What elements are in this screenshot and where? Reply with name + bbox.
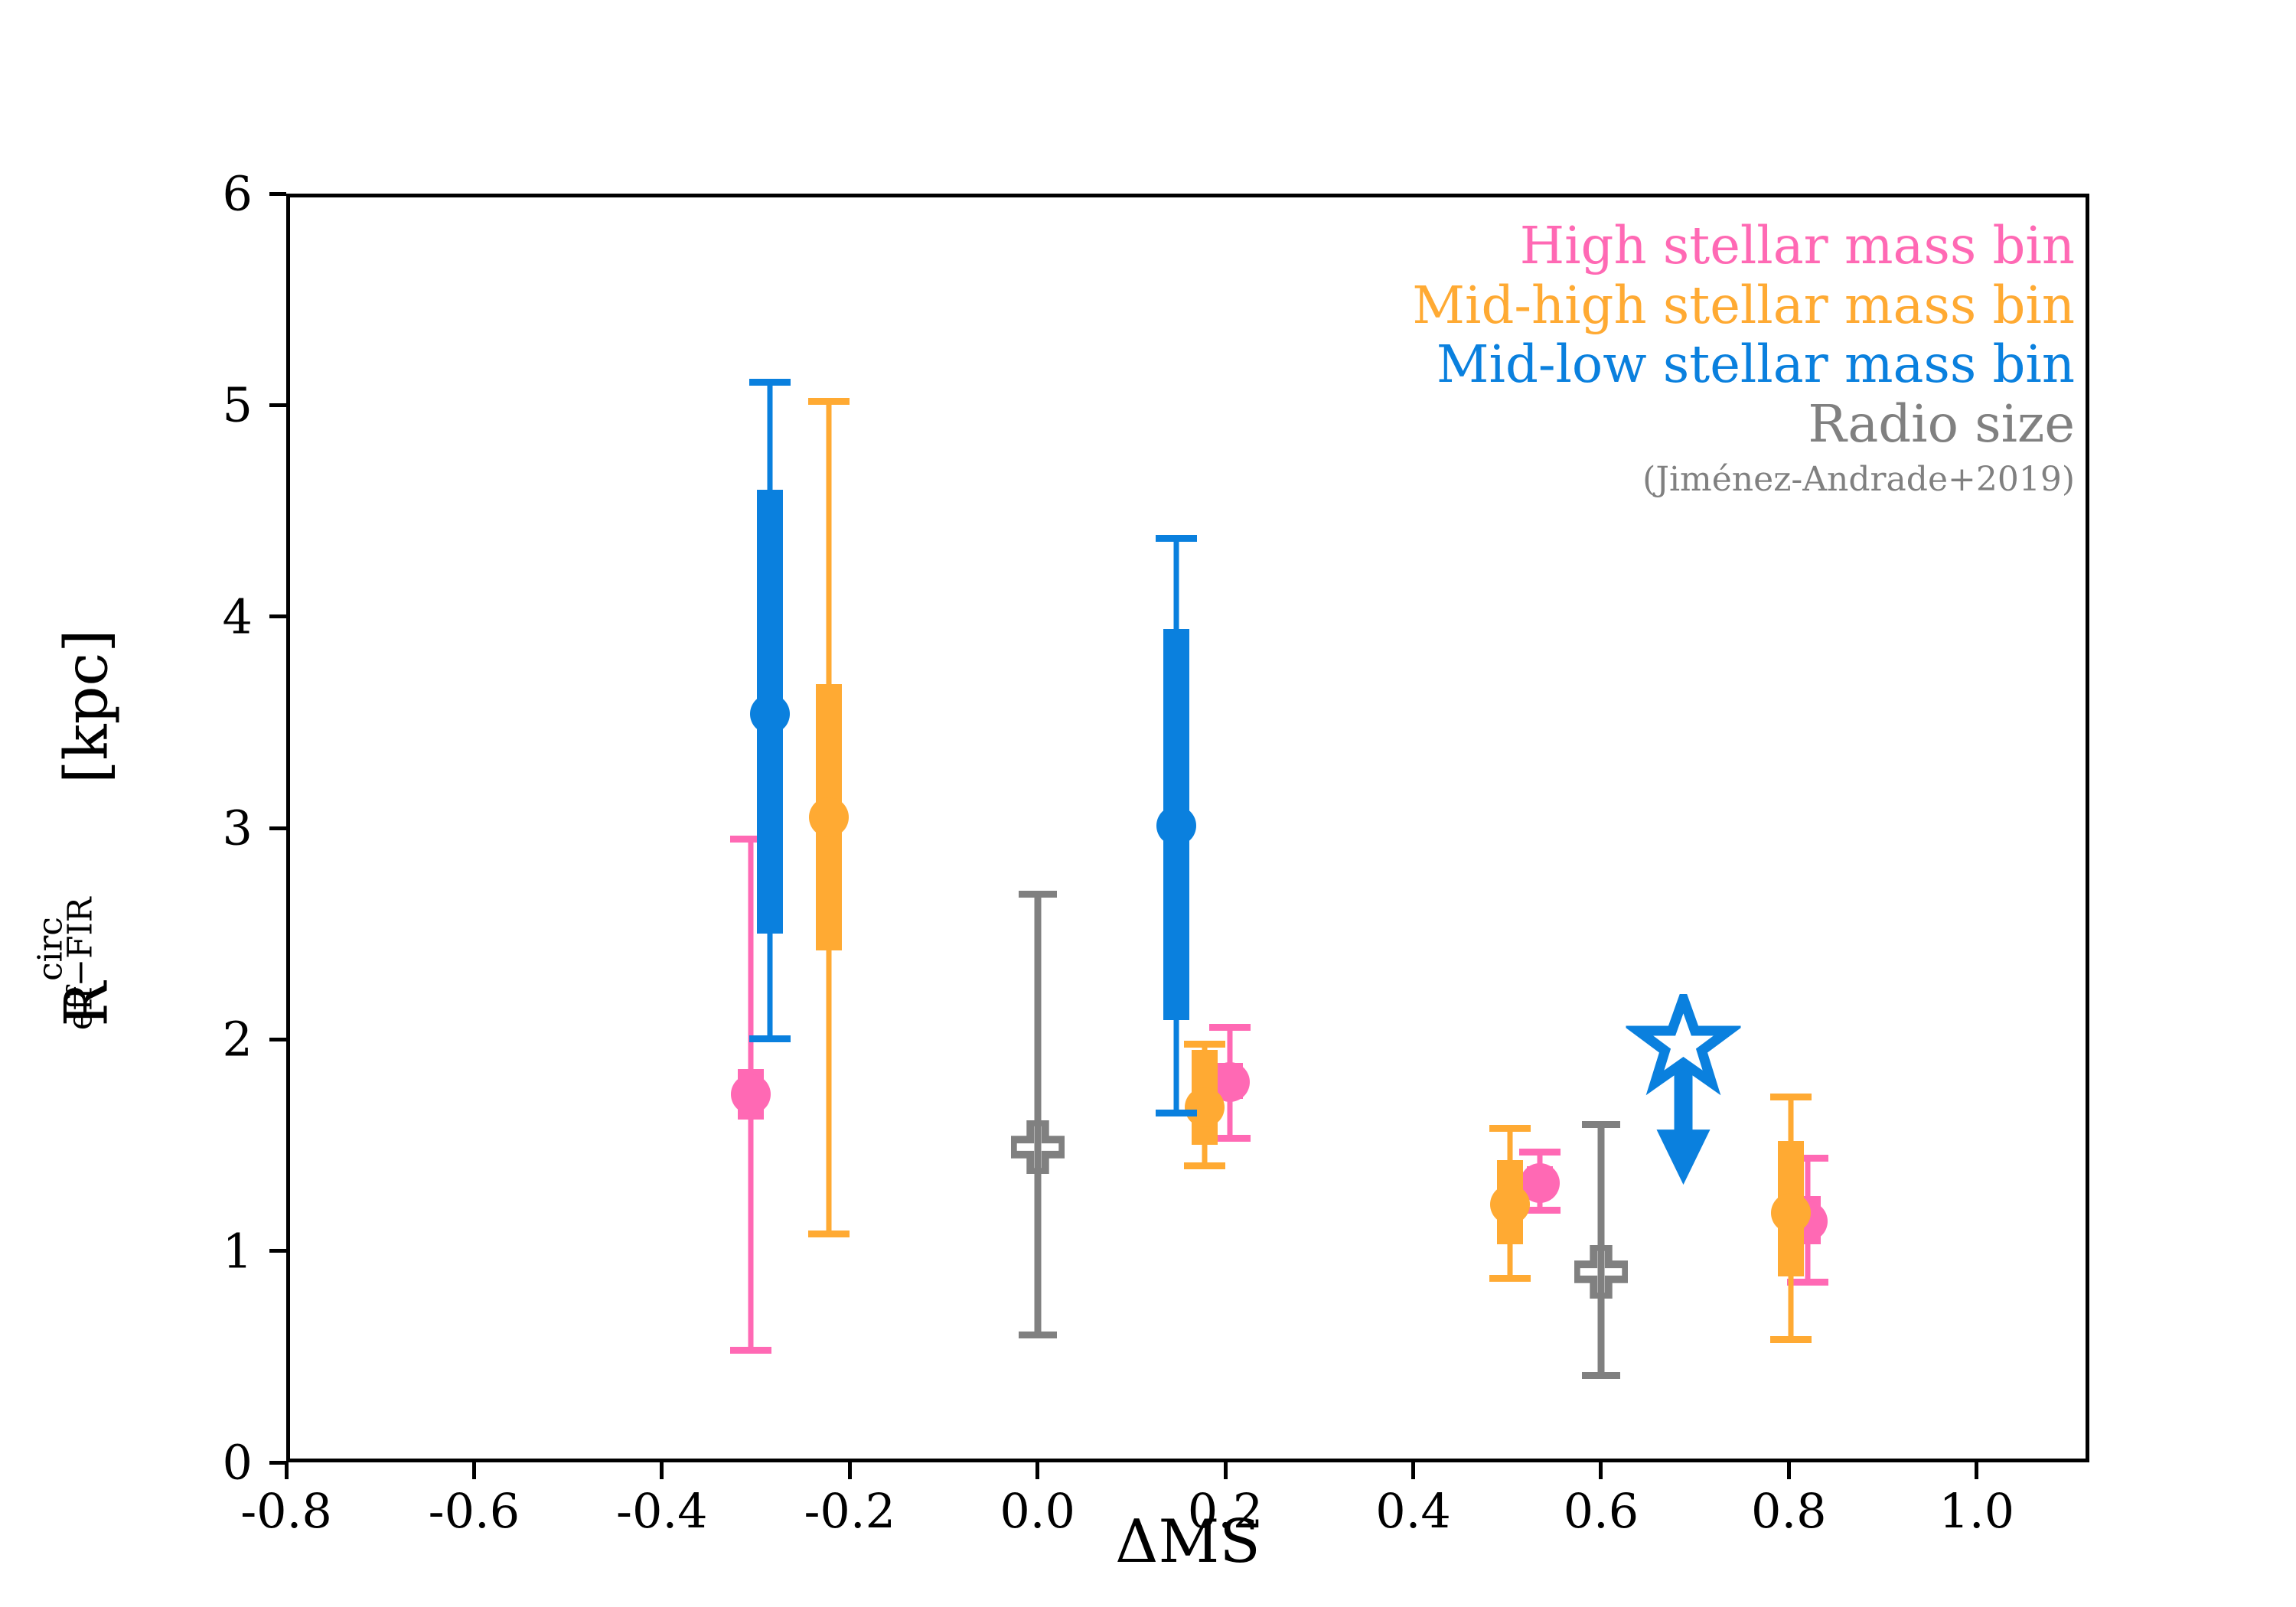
legend: High stellar mass binMid-high stellar ma…	[1412, 217, 2075, 505]
figure-canvas: -0.8-0.6-0.4-0.20.00.20.40.60.81.0 01234…	[0, 0, 2296, 1607]
x-axis-label: ΔMS	[1115, 1508, 1261, 1576]
y-axis-label-unit: [kpc]	[53, 629, 122, 803]
upper-limit-marker	[1683, 994, 1740, 1189]
y-axis-label-scripts: circeff−FIR	[47, 803, 107, 982]
legend-entry: Mid-high stellar mass bin	[1412, 276, 2075, 336]
y-axis-label-subscript: eff−FIR	[61, 897, 100, 1030]
legend-entry: High stellar mass bin	[1412, 217, 2075, 276]
legend-entry: Radio size	[1412, 395, 2075, 455]
arrow-head	[1656, 1129, 1710, 1185]
legend-citation: (Jiménez-Andrade+2019)	[1412, 455, 2075, 505]
y-axis-label: Rcirceff−FIR [kpc]	[47, 629, 122, 1026]
legend-entry: Mid-low stellar mass bin	[1412, 335, 2075, 395]
